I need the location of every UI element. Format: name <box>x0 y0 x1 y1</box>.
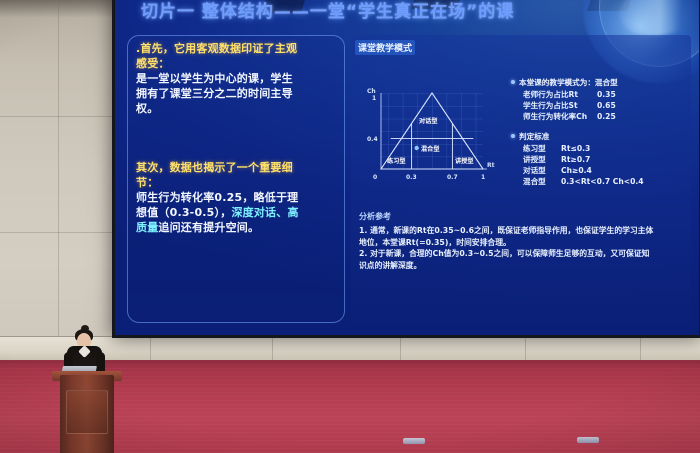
criteria-row: 对话型 Ch≥0.4 <box>511 165 687 176</box>
analysis-line: 识点的讲解深度。 <box>359 260 689 272</box>
criteria-label: 讲授型 <box>523 154 561 165</box>
led-screen-bezel: 切片一 整体结构——一堂“学生真正在场”的课 .首先，它用客观数据印证了主观 感… <box>112 0 700 338</box>
block2-body2-plain: 想值（0.3-0.5）， <box>136 206 231 219</box>
criteria-label: 对话型 <box>523 165 561 176</box>
metric-value: 0.35 <box>597 89 616 100</box>
bullet-group-current-mode: 本堂课的教学模式为：混合型 老师行为占比Rt 0.35 学生行为占比St 0.6… <box>511 77 687 122</box>
block2-lead2: 节： <box>136 175 337 190</box>
block2-body3-highlight: 质量 <box>136 221 158 234</box>
criteria-value: Rt≤0.3 <box>561 143 590 154</box>
block2-body2: 想值（0.3-0.5），深度对话、高 <box>136 205 337 220</box>
x-axis-title: Rt <box>487 162 495 169</box>
teaching-mode-triangle-chart: Ch Rt 1 0.4 0 0.3 0.7 1 对话型 混合型 练习型 <box>359 81 499 193</box>
bullet-dot-icon <box>511 80 515 84</box>
card-title: 课堂教学模式 <box>355 40 415 55</box>
text-block-spacer <box>136 127 337 138</box>
presentation-slide: 切片一 整体结构——一堂“学生真正在场”的课 .首先，它用客观数据印证了主观 感… <box>115 0 699 335</box>
metric-row: 师生行为转化率Ch 0.25 <box>511 111 687 122</box>
criteria-value: 0.3<Rt<0.7 Ch<0.4 <box>561 176 644 187</box>
region-label-practice: 练习型 <box>387 157 406 165</box>
metric-label: 老师行为占比Rt <box>523 89 597 100</box>
block2-body3-plain: 追问还有提升空间。 <box>158 221 259 234</box>
podium-front-panel <box>66 390 108 434</box>
bullet-title: 本堂课的教学模式为：混合型 <box>519 77 618 88</box>
criteria-value: Ch≥0.4 <box>561 165 592 176</box>
criteria-label: 练习型 <box>523 143 561 154</box>
y-tick-0: 0 <box>373 174 377 181</box>
text-block-spacer <box>136 149 337 160</box>
metric-row: 老师行为占比Rt 0.35 <box>511 89 687 100</box>
wall-seam <box>0 232 112 233</box>
criteria-label: 混合型 <box>523 176 561 187</box>
analysis-line: 2. 对于新课，合理的Ch值为0.3~0.5之间，可以保障师生足够的互动，又可保… <box>359 248 689 260</box>
analysis-reference-block: 分析参考 1. 通常，新课的Rt在0.35~0.6之间，既保证老师指导作用，也保… <box>359 211 689 271</box>
metric-label: 学生行为占比St <box>523 100 597 111</box>
region-label-mixed: 混合型 <box>421 145 440 153</box>
mode-bullet-lists: 本堂课的教学模式为：混合型 老师行为占比Rt 0.35 学生行为占比St 0.6… <box>511 77 687 196</box>
block2-body2-highlight: 深度对话、高 <box>231 206 298 219</box>
criteria-row: 讲授型 Rt≥0.7 <box>511 154 687 165</box>
y-axis-title: Ch <box>367 88 376 95</box>
x-tick-1: 1 <box>481 174 485 181</box>
bullet-dot-icon <box>511 134 515 138</box>
metric-value: 0.65 <box>597 100 616 111</box>
text-block-spacer <box>136 116 337 127</box>
floor-marker <box>403 438 425 444</box>
criteria-row: 练习型 Rt≤0.3 <box>511 143 687 154</box>
criteria-value: Rt≥0.7 <box>561 154 590 165</box>
block2-body3: 质量追问还有提升空间。 <box>136 220 337 235</box>
text-block-spacer <box>136 138 337 149</box>
photo-of-conference-stage: 切片一 整体结构——一堂“学生真正在场”的课 .首先，它用客观数据印证了主观 感… <box>0 0 700 453</box>
analysis-line: 地位，本堂课Rt(=0.35)，时间安排合理。 <box>359 237 689 249</box>
block1-body2: 拥有了课堂三分之二的时间主导 <box>136 86 337 101</box>
bullet-title: 判定标准 <box>519 131 549 142</box>
block2-lead: 其次，数据也揭示了一个重要细 <box>136 160 337 175</box>
chart-svg: Ch Rt 1 0.4 0 0.3 0.7 1 对话型 混合型 练习型 <box>359 81 499 193</box>
block1-body1: 是一堂以学生为中心的课，学生 <box>136 71 337 86</box>
region-label-dialogue: 对话型 <box>419 117 438 125</box>
region-label-lecture: 讲授型 <box>455 157 474 165</box>
block1-lead: .首先，它用客观数据印证了主观 <box>136 41 337 56</box>
criteria-row: 混合型 0.3<Rt<0.7 Ch<0.4 <box>511 176 687 187</box>
analysis-title: 分析参考 <box>359 211 689 222</box>
metric-row: 学生行为占比St 0.65 <box>511 100 687 111</box>
analysis-line: 1. 通常，新课的Rt在0.35~0.6之间，既保证老师指导作用，也保证学生的学… <box>359 225 689 237</box>
y-tick-1: 1 <box>372 95 376 102</box>
slide-title: 切片一 整体结构——一堂“学生真正在场”的课 <box>141 0 681 25</box>
slide-right-card: 课堂教学模式 <box>351 35 691 323</box>
y-tick-0.4: 0.4 <box>367 136 378 143</box>
wall-seam <box>0 116 112 117</box>
bullet-group-criteria: 判定标准 练习型 Rt≤0.3 讲授型 Rt≥0.7 对话型 Ch≥0.4 <box>511 131 687 187</box>
block1-body3: 权。 <box>136 101 337 116</box>
metric-value: 0.25 <box>597 111 616 122</box>
bullet-heading: 判定标准 <box>511 131 687 142</box>
block2-body1: 师生行为转化率0.25，略低于理 <box>136 190 337 205</box>
bullet-heading: 本堂课的教学模式为：混合型 <box>511 77 687 88</box>
x-tick-0.7: 0.7 <box>447 174 458 181</box>
slide-left-text-panel: .首先，它用客观数据印证了主观 感受： 是一堂以学生为中心的课，学生 拥有了课堂… <box>127 35 345 323</box>
x-tick-0.3: 0.3 <box>406 174 417 181</box>
metric-label: 师生行为转化率Ch <box>523 111 597 122</box>
wall-seam <box>58 0 59 336</box>
block1-lead2: 感受： <box>136 56 337 71</box>
floor-marker <box>577 437 599 443</box>
data-point-current-lesson <box>415 146 419 150</box>
